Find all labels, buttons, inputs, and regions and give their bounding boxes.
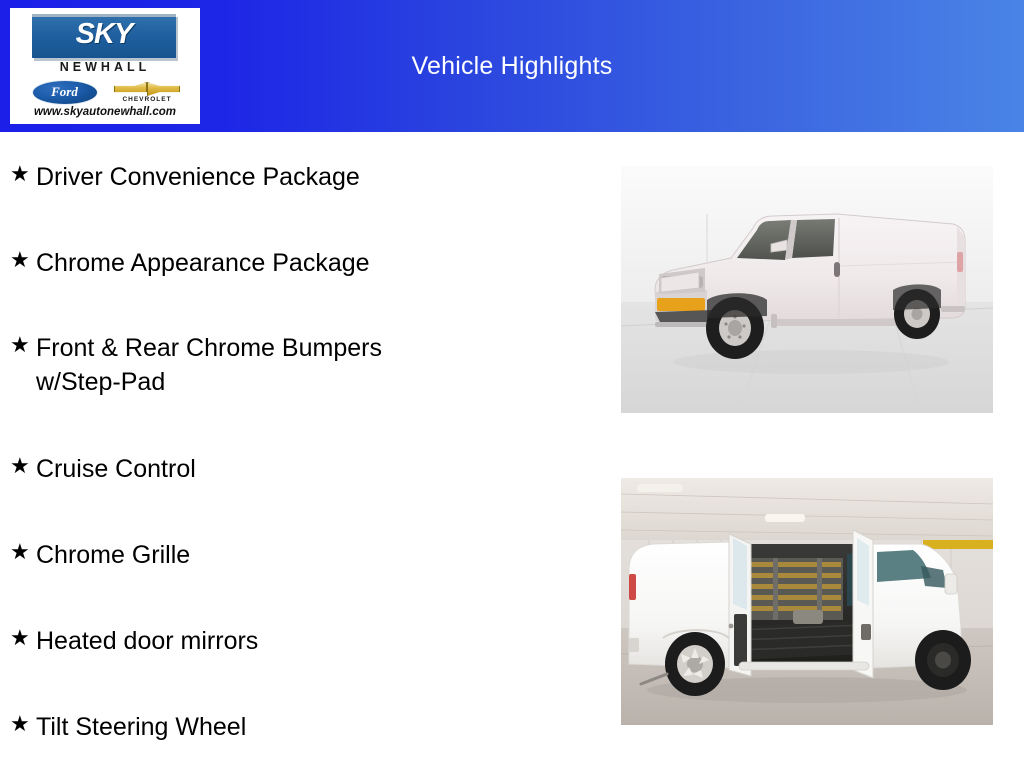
sky-banner: SKY — [32, 14, 178, 60]
chevrolet-badge: CHEVROLET — [114, 80, 182, 106]
franchise-badges: Ford CHEVROLET — [30, 80, 182, 106]
star-icon: ★ — [10, 624, 36, 654]
vehicle-photo-cargo-open[interactable] — [621, 478, 993, 725]
star-icon: ★ — [10, 452, 36, 482]
list-item-label: Chrome Appearance Package — [36, 246, 370, 280]
list-item: ★ Chrome Appearance Package — [10, 246, 370, 280]
list-item: ★ Driver Convenience Package — [10, 160, 360, 194]
star-icon: ★ — [10, 246, 36, 276]
chevrolet-wordmark: CHEVROLET — [114, 96, 180, 103]
chevrolet-bowtie-icon — [114, 82, 180, 97]
star-icon: ★ — [10, 710, 36, 740]
list-item-label: Chrome Grille — [36, 538, 190, 572]
list-item-label: Front & Rear Chrome Bumpers w/Step-Pad — [36, 331, 382, 399]
list-item-label: Tilt Steering Wheel — [36, 710, 246, 744]
list-item: ★ Front & Rear Chrome Bumpers w/Step-Pad — [10, 331, 382, 399]
dealer-location-label: NEWHALL — [10, 60, 200, 74]
dealer-website-url[interactable]: www.skyautonewhall.com — [10, 106, 200, 118]
star-icon: ★ — [10, 160, 36, 190]
list-item: ★ Tilt Steering Wheel — [10, 710, 246, 744]
list-item-label: Driver Convenience Package — [36, 160, 360, 194]
list-item-label: Cruise Control — [36, 452, 196, 486]
list-item-label: Heated door mirrors — [36, 624, 258, 658]
vehicle-photo-cargo-open-graphic — [621, 478, 993, 725]
list-item: ★ Chrome Grille — [10, 538, 190, 572]
star-icon: ★ — [10, 331, 36, 361]
dealer-logo[interactable]: SKY NEWHALL Ford CHEVROLET www.skyautone… — [10, 8, 200, 124]
vehicle-photo-exterior-graphic — [621, 166, 993, 413]
ford-wordmark: Ford — [33, 81, 96, 103]
ford-oval-icon: Ford — [32, 80, 98, 105]
sky-brand-wordmark: SKY — [32, 14, 176, 55]
dealer-logo-inner: SKY NEWHALL Ford CHEVROLET www.skyautone… — [10, 8, 200, 124]
star-icon: ★ — [10, 538, 36, 568]
list-item: ★ Heated door mirrors — [10, 624, 258, 658]
vehicle-photo-exterior[interactable] — [621, 166, 993, 413]
slide-root: Vehicle Highlights SKY NEWHALL Ford CHEV… — [0, 0, 1024, 768]
list-item: ★ Cruise Control — [10, 452, 196, 486]
